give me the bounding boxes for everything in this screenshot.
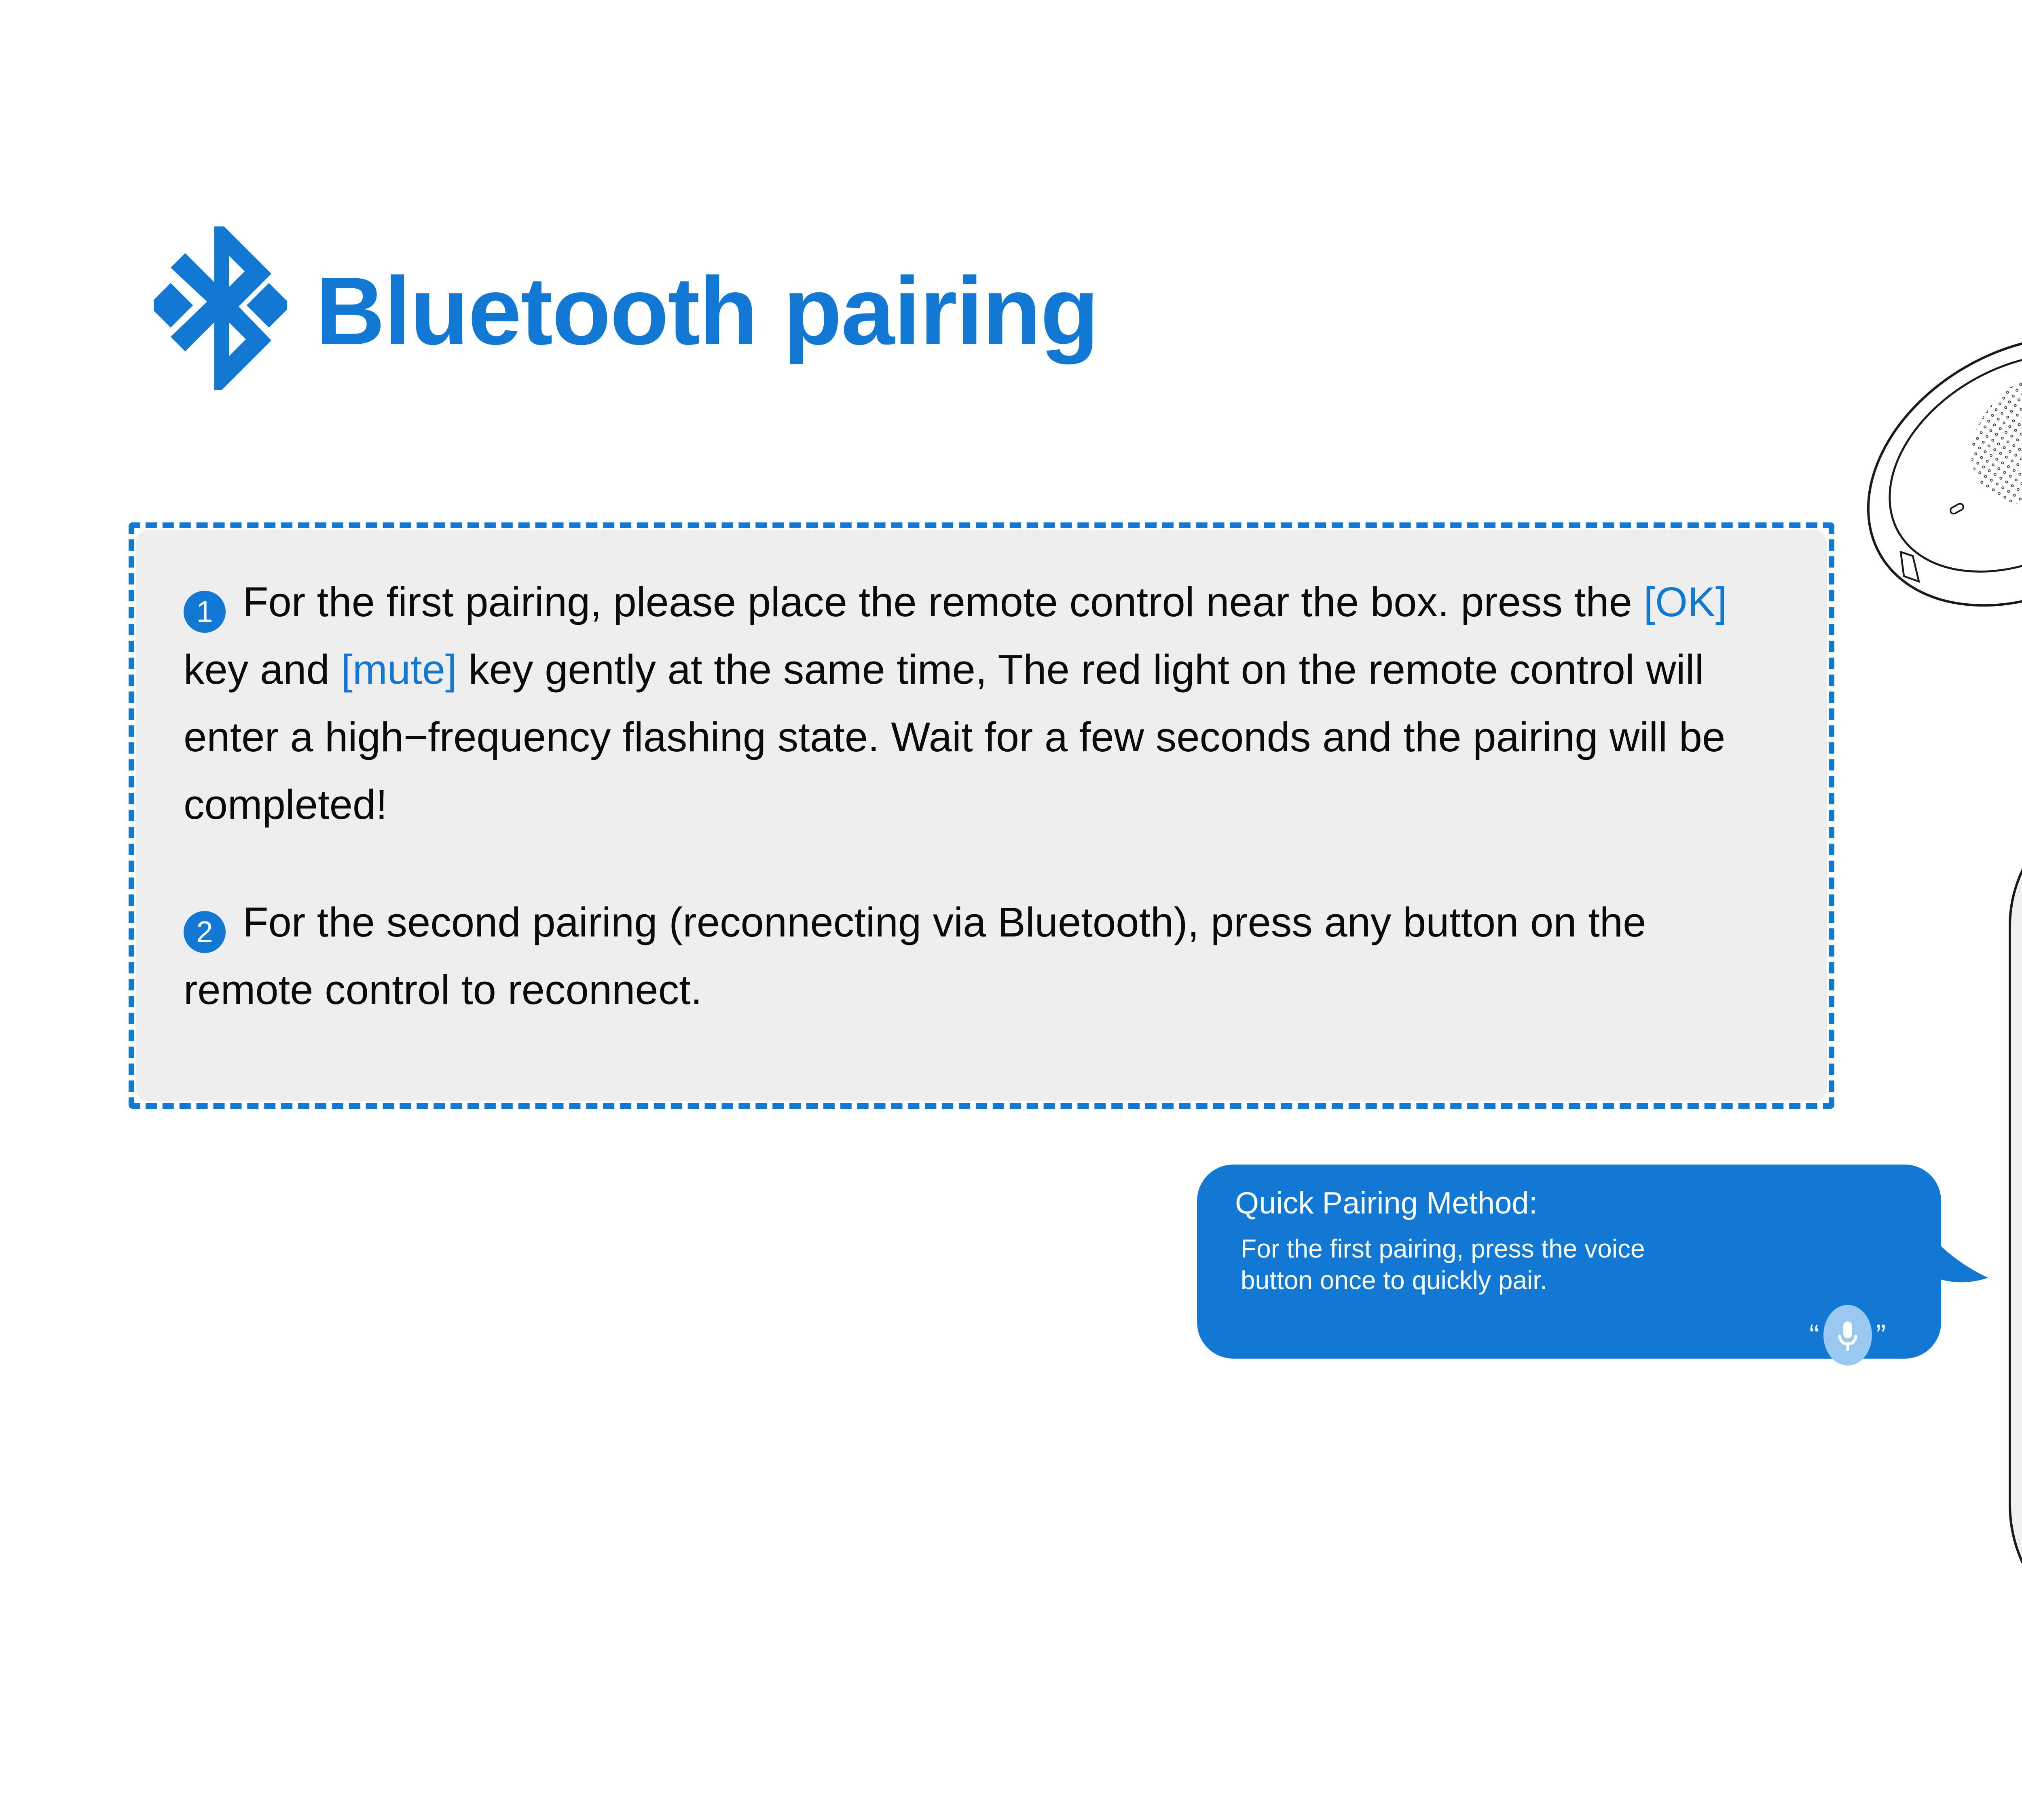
quick-pairing-line-2: button once to quickly pair. <box>1241 1264 1941 1296</box>
quick-pairing-line-1: For the first pairing, press the voice <box>1241 1233 1941 1264</box>
instruction-step-2: 2 For the second pairing (reconnecting v… <box>184 889 1779 1024</box>
quote-open-3: “ <box>1809 1320 1819 1350</box>
callout-quick-pairing: Quick Pairing Method: For the first pair… <box>1197 1165 1941 1359</box>
step-badge-2: 2 <box>184 911 226 953</box>
step2-text: For the second pairing (reconnecting via… <box>184 899 1646 1013</box>
step-badge-1: 1 <box>184 591 226 633</box>
step1-text-b: key and <box>184 646 341 693</box>
page-header: Bluetooth pairing <box>154 226 1098 396</box>
bluetooth-icon <box>154 226 287 396</box>
remote-control: YouTube NETFLIX - <box>1994 793 2022 1642</box>
keyword-ok: [OK] <box>1643 579 1727 625</box>
page-title: Bluetooth pairing <box>315 263 1098 359</box>
keyword-mute: [mute] <box>341 646 457 693</box>
quick-pairing-title: Quick Pairing Method: <box>1235 1186 1941 1221</box>
instruction-step-1: 1 For the first pairing, please place th… <box>184 569 1779 838</box>
step1-text-a: For the first pairing, please place the … <box>231 579 1643 625</box>
quote-close-3: ” <box>1876 1320 1886 1350</box>
microphone-icon <box>1823 1305 1872 1366</box>
instruction-panel: 1 For the first pairing, please place th… <box>129 522 1834 1109</box>
streaming-dongle <box>1832 174 2022 651</box>
